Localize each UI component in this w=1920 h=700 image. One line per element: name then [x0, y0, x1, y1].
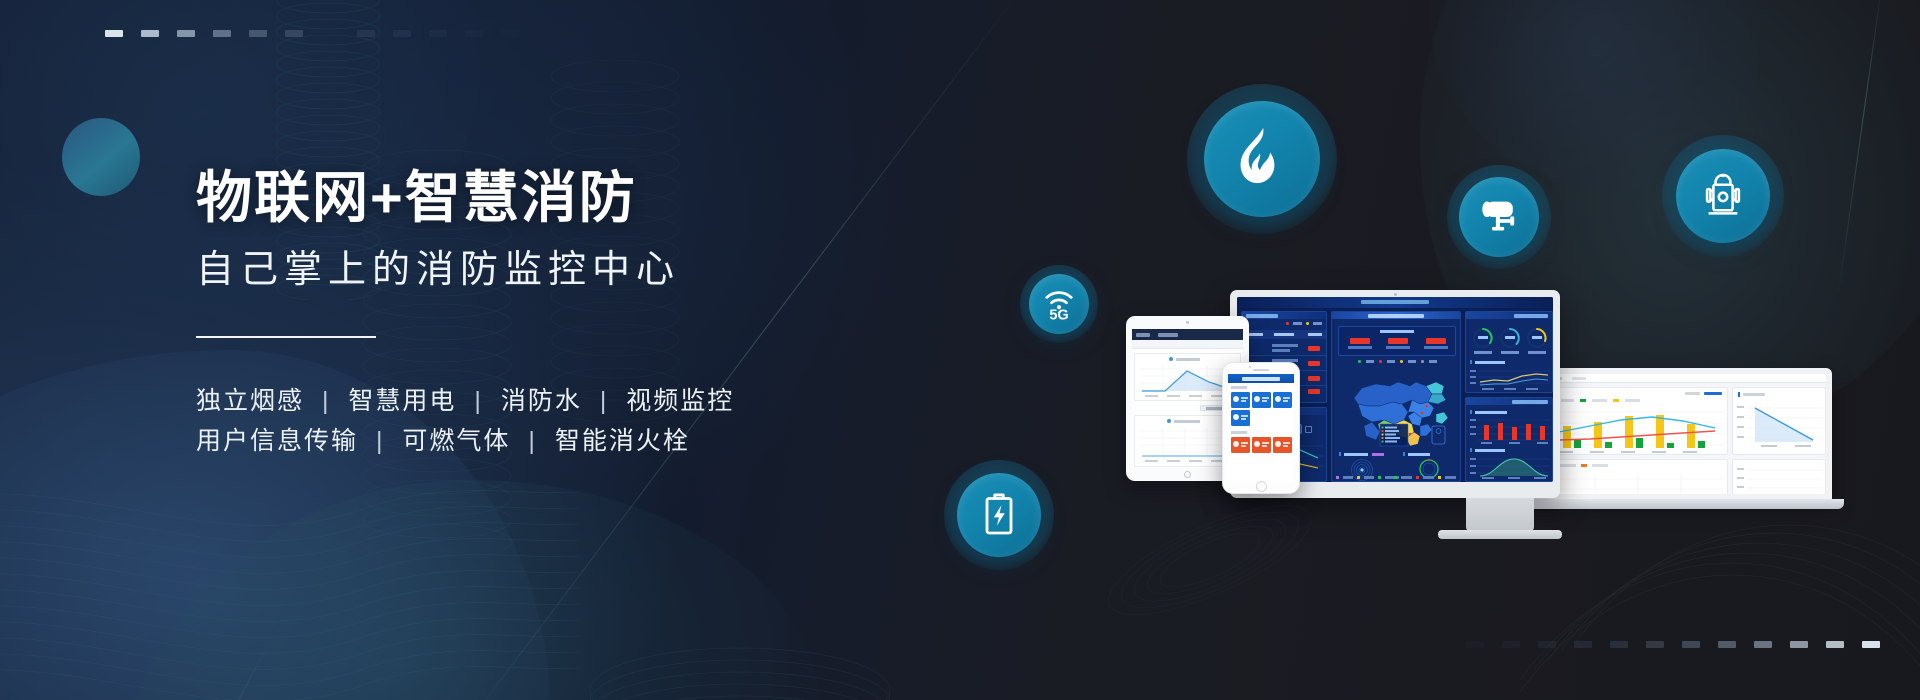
battery-icon — [944, 460, 1054, 570]
monitor-panel-right-top — [1465, 311, 1553, 393]
camera-icon — [1447, 165, 1551, 269]
china-map — [1332, 368, 1462, 456]
fire-icon — [1187, 84, 1337, 234]
monitor-stand — [1466, 498, 1534, 532]
monitor-camera-dot — [1394, 293, 1397, 296]
monitor-panel-center — [1331, 311, 1461, 482]
feature-item: 智能消火栓 — [555, 427, 690, 455]
page-subtitle: 自己掌上的消防监控中心 — [196, 250, 956, 292]
feature-item: 独立烟感 — [196, 387, 304, 415]
monitor-base — [1438, 530, 1562, 539]
feature-item: 视频监控 — [626, 387, 734, 415]
feature-item: 可燃气体 — [402, 427, 510, 455]
feature-row-1: 独立烟感 | 智慧用电 | 消防水 | 视频监控 — [196, 382, 956, 422]
hero-copy: 物联网+智慧消防 自己掌上的消防监控中心 独立烟感 | 智慧用电 | 消防水 |… — [196, 168, 956, 461]
feature-row-2: 用户信息传输 | 可燃气体 | 智能消火栓 — [196, 422, 956, 462]
feature-separator: | — [313, 387, 340, 415]
title-divider — [196, 336, 376, 338]
wireframe-mesh-bottom-center — [560, 560, 920, 700]
feature-item: 智慧用电 — [348, 387, 456, 415]
phone-home-button — [1256, 481, 1267, 492]
fire-hydrant-glyph — [1702, 170, 1744, 222]
feature-separator: | — [465, 387, 492, 415]
phone-speaker — [1253, 369, 1269, 371]
laptop-base — [1520, 499, 1844, 509]
device-cluster — [1120, 280, 1880, 580]
phone-screen — [1228, 374, 1294, 482]
phone-camera-dot — [1249, 366, 1251, 368]
fire-glyph — [1233, 128, 1291, 190]
diagonal-line-right — [1837, 0, 1883, 297]
monitor-panel-right-bottom — [1465, 397, 1553, 482]
battery-bolt-glyph — [982, 491, 1016, 539]
feature-list: 独立烟感 | 智慧用电 | 消防水 | 视频监控 用户信息传输 | 可燃气体 |… — [196, 382, 956, 461]
5g-icon: 5G — [1020, 265, 1098, 343]
decor-circle — [62, 118, 140, 196]
decor-dashes-bottom-right — [1466, 641, 1880, 648]
wireframe-mesh-bottom-left — [0, 470, 580, 700]
tablet-camera-dot — [1186, 321, 1189, 324]
tablet-home-button — [1184, 471, 1191, 478]
phone-device — [1222, 362, 1300, 494]
diagonal-line-bottom — [73, 640, 271, 700]
svg-text:5G: 5G — [1049, 308, 1068, 321]
hydrant-icon — [1662, 135, 1784, 257]
feature-separator: | — [591, 387, 618, 415]
cctv-camera-glyph — [1476, 197, 1522, 237]
laptop-device — [1532, 368, 1832, 500]
page-title: 物联网+智慧消防 — [196, 168, 956, 228]
blob-bottom-left-secondary — [120, 480, 820, 700]
laptop-screen — [1538, 374, 1826, 494]
feature-item: 消防水 — [501, 387, 582, 415]
feature-separator: | — [519, 427, 546, 455]
feature-item: 用户信息传输 — [196, 427, 358, 455]
5g-signal-glyph: 5G — [1041, 287, 1077, 321]
feature-separator: | — [367, 427, 394, 455]
hero-banner: 物联网+智慧消防 自己掌上的消防监控中心 独立烟感 | 智慧用电 | 消防水 |… — [0, 0, 1920, 700]
decor-dashes-top-left — [105, 30, 537, 37]
